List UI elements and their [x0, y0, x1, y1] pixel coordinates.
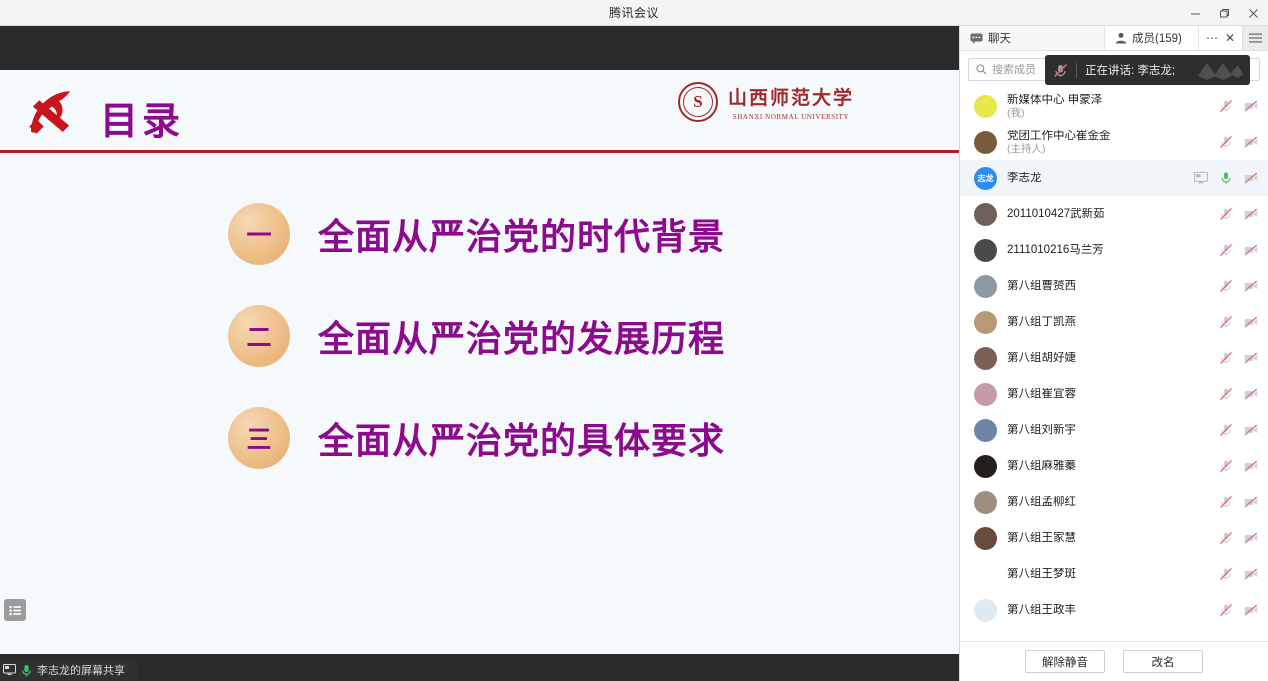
camera-off-icon[interactable] — [1244, 135, 1258, 149]
search-icon — [976, 64, 987, 75]
member-row[interactable]: 第八组丁凯燕 — [960, 304, 1268, 340]
avatar — [974, 275, 997, 298]
avatar — [974, 455, 997, 478]
member-status-icons — [1219, 243, 1258, 257]
member-names: 第八组曹赟西 — [1007, 280, 1219, 293]
toast-divider — [1076, 63, 1077, 78]
member-name: 第八组胡好婕 — [1007, 352, 1219, 365]
member-names: 2111010216马兰芳 — [1007, 244, 1219, 257]
member-row[interactable]: 志龙李志龙 — [960, 160, 1268, 196]
member-name: 第八组丁凯燕 — [1007, 316, 1219, 329]
screen-share-status-bar: 李志龙的屏幕共享 — [0, 659, 137, 681]
close-icon[interactable] — [1239, 0, 1268, 26]
camera-off-icon[interactable] — [1244, 99, 1258, 113]
toc-number: 三 — [228, 407, 290, 469]
member-row[interactable]: 第八组胡好婕 — [960, 340, 1268, 376]
camera-off-icon[interactable] — [1244, 207, 1258, 221]
search-placeholder: 搜索成员 — [992, 61, 1036, 77]
avatar — [974, 311, 997, 334]
member-names: 第八组刘新宇 — [1007, 424, 1219, 437]
avatar — [974, 599, 997, 622]
member-status-icons — [1219, 567, 1258, 581]
member-status-icons — [1219, 495, 1258, 509]
person-icon — [1115, 32, 1127, 44]
member-name: 第八组王家慧 — [1007, 532, 1219, 545]
member-status-icons — [1219, 315, 1258, 329]
maximize-icon[interactable] — [1210, 0, 1239, 26]
camera-off-icon[interactable] — [1244, 243, 1258, 257]
member-status-icons — [1219, 279, 1258, 293]
member-row[interactable]: 第八组王家慧 — [960, 520, 1268, 556]
member-search-area: 搜索成员 正在讲话: 李志龙; — [960, 51, 1268, 87]
tab-chat[interactable]: 聊天 — [960, 26, 1105, 50]
meeting-side-panel: 聊天 成员(159) ⋯ ✕ 搜索成员 — [959, 26, 1268, 681]
camera-off-icon[interactable] — [1244, 603, 1258, 617]
camera-off-icon[interactable] — [1244, 495, 1258, 509]
mic-muted-icon[interactable] — [1219, 135, 1233, 149]
camera-off-icon[interactable] — [1244, 459, 1258, 473]
member-row[interactable]: 第八组麻雅蓁 — [960, 448, 1268, 484]
camera-off-icon[interactable] — [1244, 279, 1258, 293]
member-name: 2111010216马兰芳 — [1007, 244, 1219, 257]
avatar — [974, 131, 997, 154]
member-name: 2011010427武新茹 — [1007, 208, 1219, 221]
member-name: 党团工作中心崔金金 — [1007, 130, 1219, 143]
speaking-toast: 正在讲话: 李志龙; — [1045, 55, 1250, 85]
toc-number: 一 — [228, 203, 290, 265]
member-name: 李志龙 — [1007, 172, 1194, 185]
panel-tab-bar: 聊天 成员(159) ⋯ ✕ — [960, 26, 1268, 51]
member-row[interactable]: 第八组刘新宇 — [960, 412, 1268, 448]
university-name-cn: 山西师范大学 — [728, 83, 854, 110]
member-names: 第八组孟柳红 — [1007, 496, 1219, 509]
toc-number: 二 — [228, 305, 290, 367]
slide-header: 目录 S 山西师范大学 SHANXI NORMAL UNIVERSITY — [0, 70, 959, 153]
toc-item: 一 全面从严治党的时代背景 — [0, 200, 959, 268]
member-row[interactable]: 第八组王梦斑 — [960, 556, 1268, 592]
university-name-en: SHANXI NORMAL UNIVERSITY — [728, 113, 854, 121]
member-role: (主持人) — [1007, 143, 1219, 155]
member-row[interactable]: 党团工作中心崔金金(主持人) — [960, 124, 1268, 160]
hamburger-icon[interactable] — [1242, 26, 1268, 50]
mic-muted-icon[interactable] — [1219, 567, 1233, 581]
avatar: 志龙 — [974, 167, 997, 190]
chat-bubble-icon — [970, 33, 983, 44]
header-divider — [0, 150, 959, 153]
mic-muted-icon[interactable] — [1219, 279, 1233, 293]
panel-actions: ⋯ ✕ — [1199, 26, 1242, 50]
mic-muted-icon[interactable] — [1219, 459, 1233, 473]
member-name: 第八组王政丰 — [1007, 604, 1219, 617]
member-row[interactable]: 2011010427武新茹 — [960, 196, 1268, 232]
minimize-icon[interactable] — [1181, 0, 1210, 26]
camera-off-icon[interactable] — [1244, 171, 1258, 185]
member-name: 第八组麻雅蓁 — [1007, 460, 1219, 473]
presentation-slide: 目录 S 山西师范大学 SHANXI NORMAL UNIVERSITY 一 全… — [0, 70, 959, 654]
member-names: 第八组麻雅蓁 — [1007, 460, 1219, 473]
member-names: 第八组丁凯燕 — [1007, 316, 1219, 329]
member-row[interactable]: 2111010216马兰芳 — [960, 232, 1268, 268]
avatar — [974, 203, 997, 226]
rename-button[interactable]: 改名 — [1123, 650, 1203, 673]
member-status-icons — [1219, 99, 1258, 113]
member-names: 第八组王政丰 — [1007, 604, 1219, 617]
member-names: 党团工作中心崔金金(主持人) — [1007, 130, 1219, 155]
member-status-icons — [1219, 603, 1258, 617]
window-title-bar: 腾讯会议 — [0, 0, 1268, 26]
member-status-icons — [1219, 459, 1258, 473]
shared-screen-stage: 目录 S 山西师范大学 SHANXI NORMAL UNIVERSITY 一 全… — [0, 26, 959, 681]
toc-label: 全面从严治党的发展历程 — [318, 310, 725, 362]
university-seal-icon: S — [678, 82, 718, 122]
audio-wave-icon — [1196, 59, 1244, 81]
toc-label: 全面从严治党的具体要求 — [318, 412, 725, 464]
member-name: 第八组曹赟西 — [1007, 280, 1219, 293]
camera-off-icon[interactable] — [1244, 423, 1258, 437]
toc-item: 三 全面从严治党的具体要求 — [0, 404, 959, 472]
member-names: 2011010427武新茹 — [1007, 208, 1219, 221]
mic-muted-icon[interactable] — [1219, 603, 1233, 617]
mic-muted-icon[interactable] — [1219, 207, 1233, 221]
avatar — [974, 95, 997, 118]
member-names: 第八组胡好婕 — [1007, 352, 1219, 365]
tab-members[interactable]: 成员(159) — [1105, 26, 1199, 50]
mic-muted-icon[interactable] — [1219, 315, 1233, 329]
university-logo: S 山西师范大学 SHANXI NORMAL UNIVERSITY — [678, 82, 854, 122]
member-row[interactable]: 第八组孟柳红 — [960, 484, 1268, 520]
panel-footer: 解除静音 改名 — [960, 641, 1268, 681]
toc-label: 全面从严治党的时代背景 — [318, 208, 725, 260]
unmute-button[interactable]: 解除静音 — [1025, 650, 1105, 673]
member-list[interactable]: 新媒体中心 申蒙泽(我)党团工作中心崔金金(主持人)志龙李志龙201101042… — [960, 87, 1268, 641]
member-names: 第八组王梦斑 — [1007, 568, 1219, 581]
slide-title: 目录 — [100, 90, 184, 145]
mic-muted-icon[interactable] — [1219, 531, 1233, 545]
member-status-icons — [1219, 207, 1258, 221]
camera-off-icon[interactable] — [1244, 531, 1258, 545]
avatar — [974, 563, 997, 586]
avatar — [974, 419, 997, 442]
camera-off-icon[interactable] — [1244, 315, 1258, 329]
camera-off-icon[interactable] — [1244, 567, 1258, 581]
member-names: 新媒体中心 申蒙泽(我) — [1007, 94, 1219, 119]
member-status-icons — [1219, 531, 1258, 545]
monitor-icon — [3, 664, 16, 676]
camera-off-icon[interactable] — [1244, 387, 1258, 401]
member-names: 第八组崔宜蓉 — [1007, 388, 1219, 401]
mic-muted-icon[interactable] — [1219, 99, 1233, 113]
member-status-icons — [1194, 171, 1258, 185]
member-name: 新媒体中心 申蒙泽 — [1007, 94, 1219, 107]
member-row[interactable]: 新媒体中心 申蒙泽(我) — [960, 88, 1268, 124]
share-bar-label: 李志龙的屏幕共享 — [37, 662, 125, 678]
slide-toc-list: 一 全面从严治党的时代背景 二 全面从严治党的发展历程 三 全面从严治党的具体要… — [0, 200, 959, 506]
tab-members-label: 成员(159) — [1132, 30, 1182, 46]
member-name: 第八组刘新宇 — [1007, 424, 1219, 437]
member-status-icons — [1219, 351, 1258, 365]
more-options-icon[interactable]: ⋯ — [1206, 31, 1218, 45]
member-role: (我) — [1007, 107, 1219, 119]
window-controls — [1181, 0, 1268, 26]
member-names: 李志龙 — [1007, 172, 1194, 185]
close-panel-icon[interactable]: ✕ — [1225, 31, 1235, 45]
tab-chat-label: 聊天 — [988, 30, 1011, 46]
mic-muted-icon[interactable] — [1219, 351, 1233, 365]
list-view-icon[interactable] — [4, 599, 26, 621]
party-emblem-icon — [22, 83, 80, 141]
member-name: 第八组王梦斑 — [1007, 568, 1219, 581]
avatar — [974, 347, 997, 370]
member-row[interactable]: 第八组王政丰 — [960, 592, 1268, 628]
screen-share-icon[interactable] — [1194, 171, 1208, 185]
toc-item: 二 全面从严治党的发展历程 — [0, 302, 959, 370]
speaking-toast-label: 正在讲话: 李志龙; — [1085, 62, 1175, 78]
member-names: 第八组王家慧 — [1007, 532, 1219, 545]
mic-muted-icon[interactable] — [1219, 423, 1233, 437]
camera-off-icon[interactable] — [1244, 351, 1258, 365]
mic-muted-icon — [1053, 63, 1068, 78]
microphone-icon — [21, 664, 32, 677]
avatar — [974, 383, 997, 406]
mic-muted-icon[interactable] — [1219, 495, 1233, 509]
member-name: 第八组孟柳红 — [1007, 496, 1219, 509]
avatar — [974, 491, 997, 514]
member-row[interactable]: 第八组曹赟西 — [960, 268, 1268, 304]
avatar — [974, 239, 997, 262]
mic-muted-icon[interactable] — [1219, 387, 1233, 401]
member-status-icons — [1219, 387, 1258, 401]
mic-muted-icon[interactable] — [1219, 243, 1233, 257]
window-title: 腾讯会议 — [609, 4, 659, 21]
member-row[interactable]: 第八组崔宜蓉 — [960, 376, 1268, 412]
member-name: 第八组崔宜蓉 — [1007, 388, 1219, 401]
seal-monogram: S — [693, 92, 702, 112]
avatar — [974, 527, 997, 550]
member-status-icons — [1219, 423, 1258, 437]
member-status-icons — [1219, 135, 1258, 149]
mic-on-icon[interactable] — [1219, 171, 1233, 185]
